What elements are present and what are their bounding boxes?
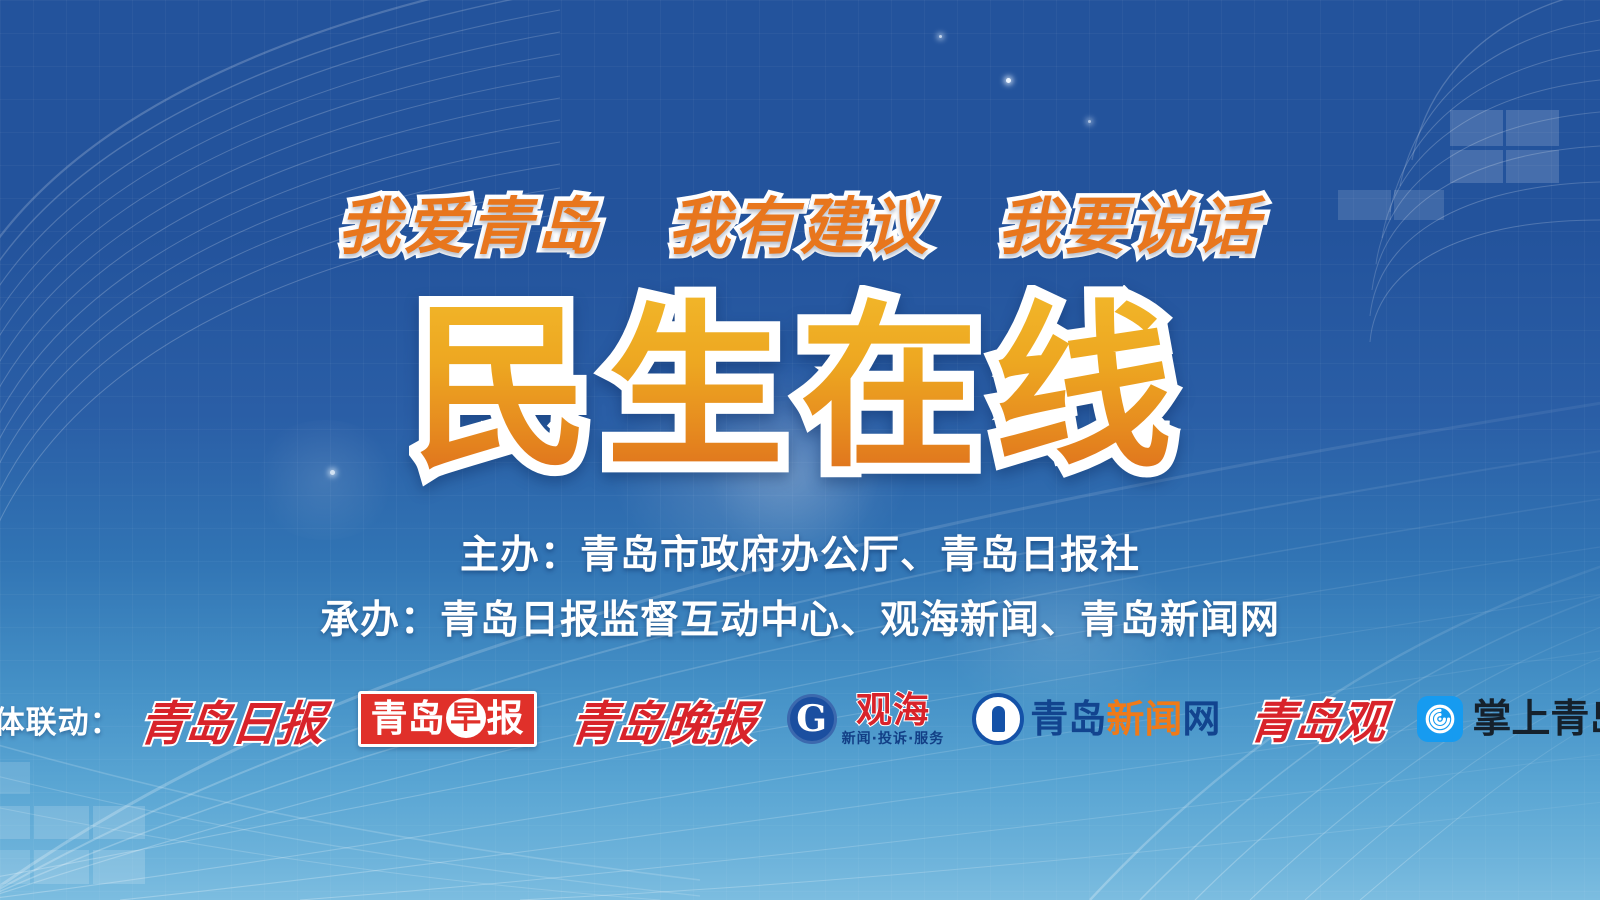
qingdao-news-net-icon — [972, 693, 1024, 745]
logo-qingdao-news-net[interactable]: 青岛新闻网 — [972, 693, 1220, 745]
spiral-icon — [1417, 696, 1463, 742]
poster-canvas: 我爱青岛 我有建议 我要说话 民生在线 民生在线 主办：青岛市政府办公厅、青岛日… — [0, 0, 1600, 900]
logo-qdnews-part-blue-1: 青岛 — [1030, 697, 1106, 741]
logo-guanhai-text: 观海 — [856, 693, 930, 729]
logo-qingdao-morning-part-b: 早 — [446, 698, 486, 738]
logo-qingdao-morning-part-a: 青岛 — [371, 700, 445, 737]
logo-qingdao-daily[interactable]: 青岛日报 — [132, 685, 342, 754]
logo-qingdao-morning-post[interactable]: 青岛 早 报 — [358, 691, 537, 747]
logo-qingdao-guan-text: 青岛观 — [1247, 686, 1389, 752]
media-partners-row: 媒体联动： 青岛日报 青岛 早 报 青岛晚报 G 观海 新闻·投诉·服务 — [0, 683, 1600, 755]
media-partners-label: 媒体联动： — [0, 697, 122, 742]
undertaker-line: 承办：青岛日报监督互动中心、观海新闻、青岛新闻网 — [0, 601, 1600, 640]
poster-main-title: 民生在线 民生在线 — [0, 300, 1600, 478]
logo-qingdao-morning-part-c: 报 — [487, 700, 524, 737]
logo-qingdao-guan[interactable]: 青岛观 — [1234, 686, 1401, 752]
logo-zhangshang-text: 掌上青岛 — [1472, 700, 1600, 739]
guanhai-g-icon: G — [787, 694, 837, 744]
main-title-fill: 民生在线 — [412, 285, 1188, 492]
logo-guanhai[interactable]: G 观海 新闻·投诉·服务 — [787, 693, 945, 746]
logo-qingdao-evening-text: 青岛晚报 — [567, 685, 758, 754]
organizer-line: 主办：青岛市政府办公厅、青岛日报社 — [0, 536, 1600, 575]
logo-zhangshang-qingdao[interactable]: 掌上青岛 — [1417, 696, 1600, 742]
logo-qingdao-evening-news[interactable]: 青岛晚报 — [553, 685, 773, 754]
logo-guanhai-subtitle: 新闻·投诉·服务 — [842, 732, 945, 746]
logo-qdnews-part-blue-2: 网 — [1182, 697, 1220, 741]
poster-tagline: 我爱青岛 我有建议 我要说话 — [0, 196, 1600, 258]
logo-qdnews-part-orange: 新闻 — [1106, 697, 1182, 741]
logo-qingdao-daily-text: 青岛日报 — [136, 685, 327, 754]
poster-content: 我爱青岛 我有建议 我要说话 民生在线 民生在线 主办：青岛市政府办公厅、青岛日… — [0, 0, 1600, 900]
